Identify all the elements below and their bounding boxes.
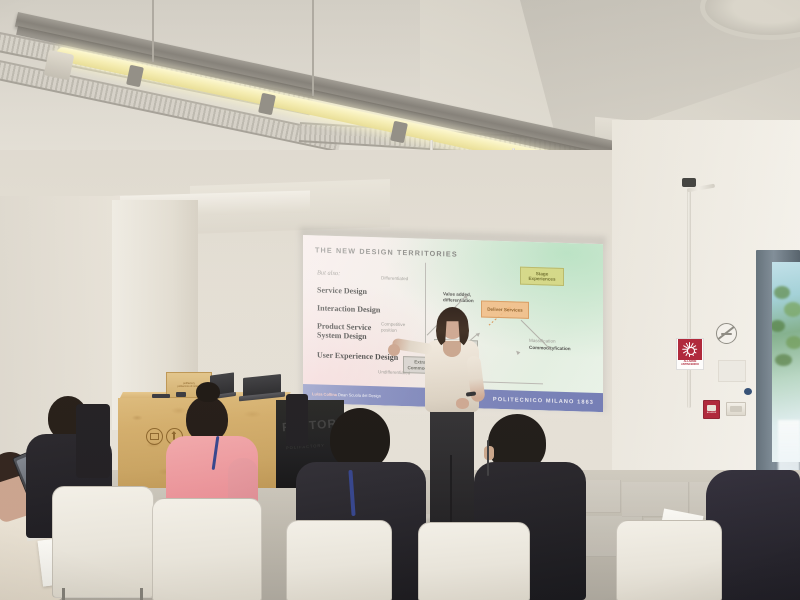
stacked-chair — [286, 394, 308, 446]
territory-item-user-experience-design: User Experience Design — [317, 350, 398, 362]
electrical-conduit — [687, 188, 691, 408]
call-point-window — [707, 405, 716, 411]
territory-item-interaction-design: Interaction Design — [317, 303, 380, 314]
slide-title: THE NEW DESIGN TERRITORIES — [315, 245, 458, 258]
slide-footer-institution: POLITECNICO MILANO 1863 — [493, 396, 594, 405]
burst-glyph — [683, 342, 698, 357]
fire-alarm-call-point[interactable]: ALLARME — [703, 400, 720, 419]
chart-box-stage-experiences: Stage Experiences — [520, 267, 564, 286]
speaker-right-hand — [456, 398, 469, 409]
slide-intro-text: But also: — [317, 269, 340, 277]
chair-leg — [62, 588, 65, 600]
door-handle-icon[interactable] — [744, 388, 752, 395]
chair[interactable] — [152, 498, 262, 600]
fixture-hanger-wire — [152, 0, 154, 62]
fixture-hanger-wire — [312, 0, 314, 96]
audience-member-hair-bun — [196, 382, 220, 402]
audience-member-head — [330, 408, 390, 470]
stacked-chair — [76, 404, 110, 478]
territory-item-product-service-system-design: Product Service System Design — [317, 321, 371, 342]
desk-equipment — [152, 394, 170, 398]
fire-alarm-sign: ALLARME ANTINCENDIO — [676, 338, 704, 370]
wall-socket-plate — [726, 402, 746, 416]
fire-alarm-sign-label: ALLARME ANTINCENDIO — [681, 360, 699, 367]
no-smoking-icon — [716, 323, 737, 344]
speaker-left-hand — [388, 344, 400, 356]
speaker-neck — [443, 341, 461, 357]
speaker-leg-gap — [450, 455, 452, 528]
wall-access-panel — [718, 360, 746, 382]
eyeglasses-temple-icon — [487, 440, 489, 476]
chair[interactable] — [418, 522, 530, 600]
audience-member-ear — [484, 446, 494, 460]
desk-equipment — [176, 392, 186, 397]
call-point-label: ALLARME — [707, 412, 716, 414]
speaker-legs — [430, 400, 474, 528]
footer-speaker-name: Luisa Collina — [312, 391, 337, 397]
footer-speaker-role: Dean Scuola del Design — [338, 392, 381, 398]
commodity-arrow-head — [515, 349, 521, 355]
polifactory-logo-square-icon — [146, 428, 163, 445]
axis-label-differentiated: Differentiated — [381, 275, 408, 282]
chair[interactable] — [52, 486, 154, 598]
chair[interactable] — [616, 520, 722, 600]
ceiling-sensor-icon — [682, 178, 696, 187]
chair-leg — [140, 588, 143, 600]
lecture-room-photo: ALLARME ANTINCENDIO ALLARME THE NEW DESI… — [0, 0, 800, 600]
axis-label-competitive-position: Competitive position — [381, 321, 405, 333]
slide-footer-left: Luisa Collina Dean Scuola del Design — [312, 391, 381, 398]
ladder-connector-head — [476, 331, 482, 337]
chair[interactable] — [286, 520, 392, 600]
fixture-endcap — [44, 50, 75, 81]
fire-alarm-burst-icon — [678, 339, 702, 360]
territory-item-service-design: Service Design — [317, 285, 367, 296]
chart-box-deliver-services: Deliver Services — [481, 300, 529, 318]
